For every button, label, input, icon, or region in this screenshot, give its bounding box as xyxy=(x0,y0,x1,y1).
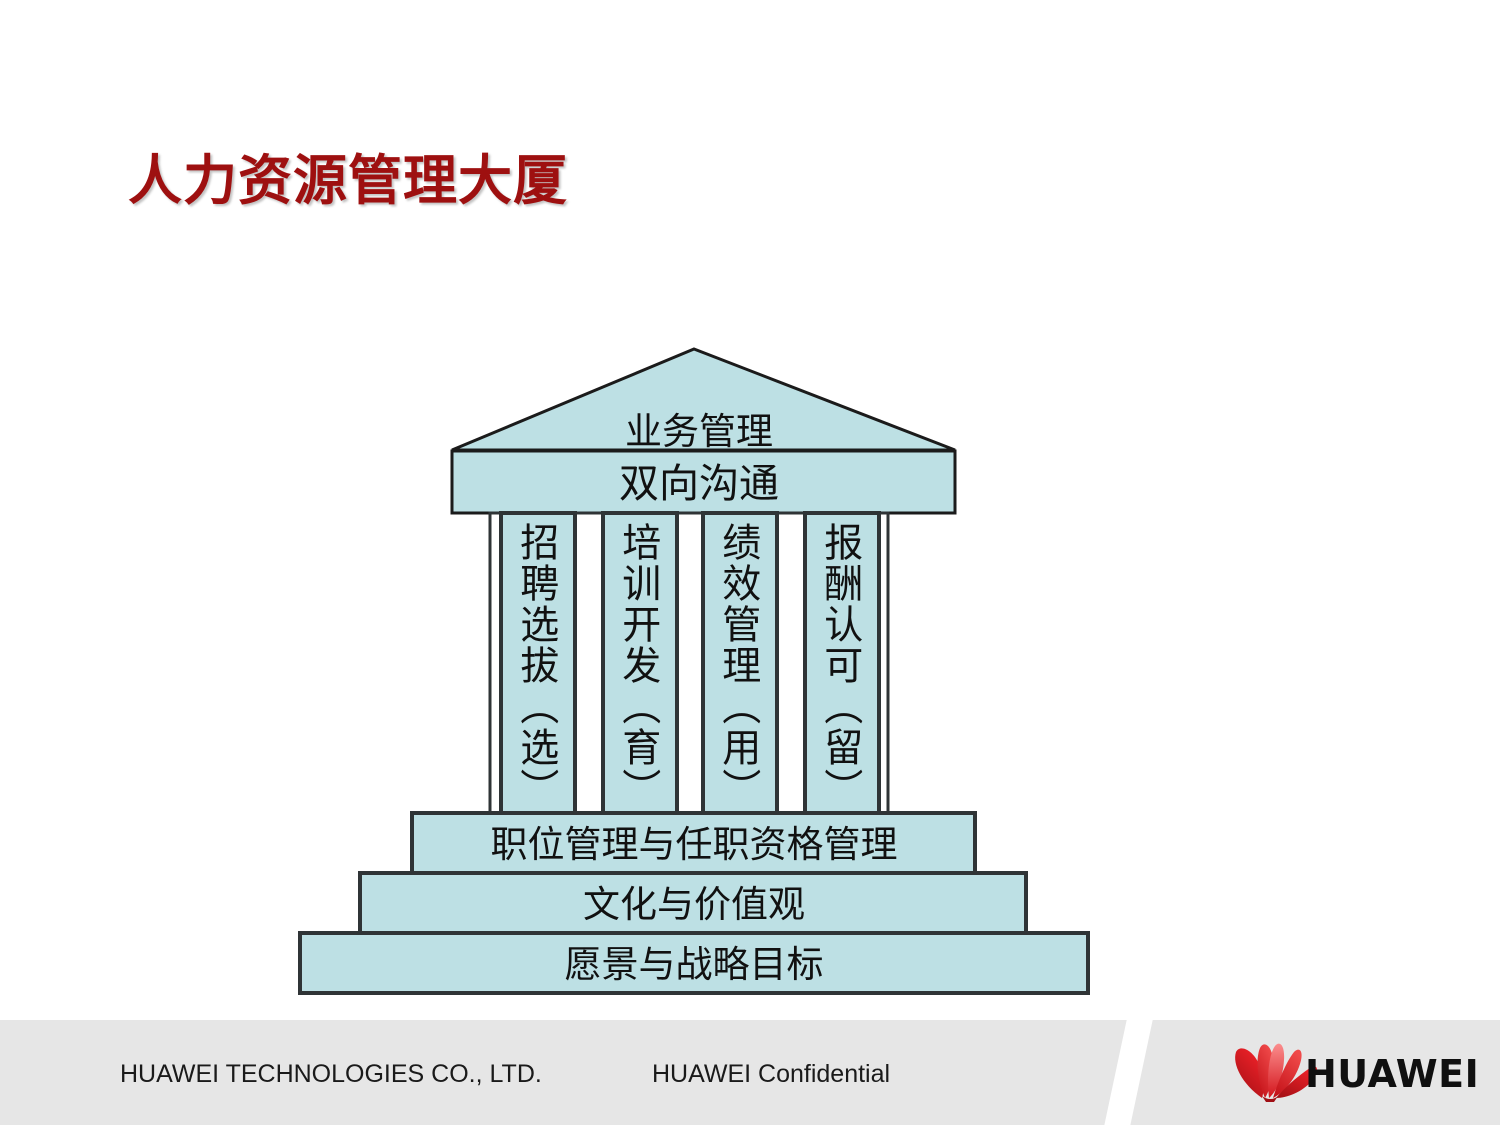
hr-management-building-diagram: 业务管理 双向沟通 职位管理与任职资格管理 文化与价值观 愿景与战略目标 招聘选… xyxy=(0,0,1500,1020)
footer-confidential-text: HUAWEI Confidential xyxy=(652,1060,890,1089)
architrave-band-label: 双向沟通 xyxy=(619,461,779,507)
step-2-label: 文化与价值观 xyxy=(583,883,805,926)
pillar-1 xyxy=(501,513,575,813)
step-1-label: 职位管理与任职资格管理 xyxy=(491,823,898,866)
roof-pediment-label: 业务管理 xyxy=(625,410,773,453)
pillar-4 xyxy=(805,513,879,813)
footer-divider-slash xyxy=(1101,1020,1155,1125)
huawei-wordmark: HUAWEI xyxy=(1305,1052,1479,1096)
footer-company-text: HUAWEI TECHNOLOGIES CO., LTD. xyxy=(120,1060,542,1089)
pillar-2 xyxy=(603,513,677,813)
pillar-3 xyxy=(703,513,777,813)
step-3-label: 愿景与战略目标 xyxy=(565,943,824,986)
